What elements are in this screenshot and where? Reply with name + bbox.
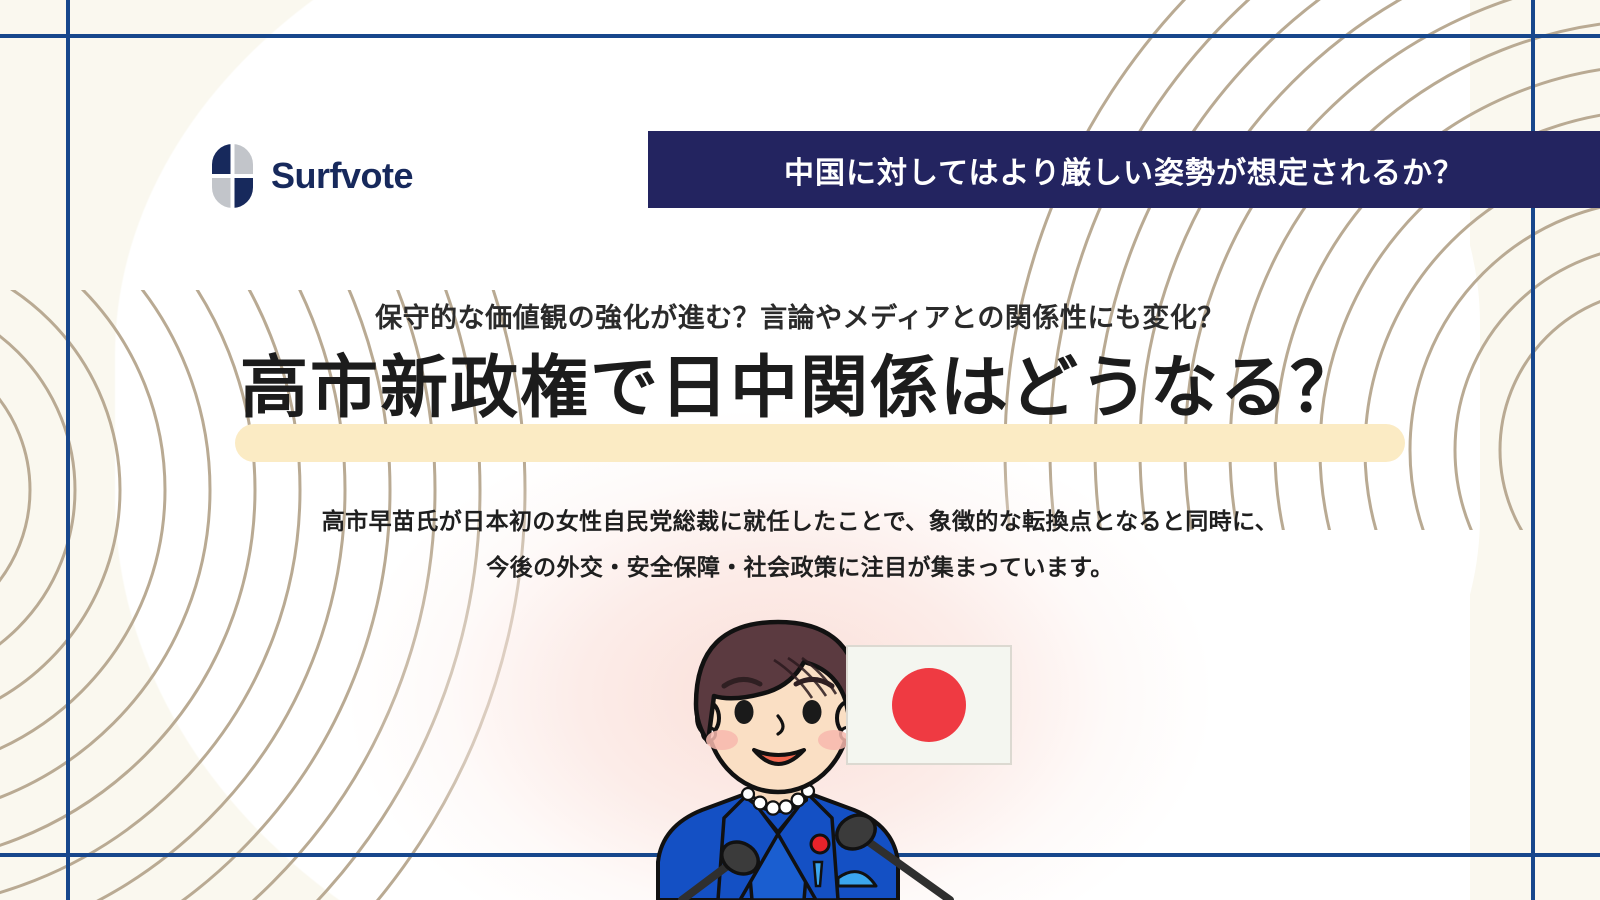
headline-block: 高市新政権で日中関係はどうなる？ [0, 352, 1600, 425]
flag-sun-disc [892, 668, 966, 742]
page-title: 高市新政権で日中関係はどうなる？ [0, 352, 1600, 425]
brand-wordmark: Surfvote [271, 158, 413, 194]
body-line-2: 今後の外交・安全保障・社会政策に注目が集まっています。 [0, 544, 1600, 590]
japan-flag-icon [846, 645, 1012, 765]
headline-highlight-bar [235, 424, 1405, 462]
poster-canvas: Surfvote 中国に対してはより厳しい姿勢が想定されるか？ 保守的な価値観の… [0, 0, 1600, 900]
surfvote-pill-mark-icon [212, 144, 253, 208]
eye-right [803, 700, 822, 724]
lapel-pin-icon [811, 835, 829, 853]
body-copy: 高市早苗氏が日本初の女性自民党総裁に就任したことで、象徴的な転換点となると同時に… [0, 498, 1600, 590]
frame-line-top [0, 34, 1600, 38]
brand-logo[interactable]: Surfvote [212, 144, 413, 208]
headline-banner: 中国に対してはより厳しい姿勢が想定されるか？ [648, 131, 1600, 208]
eye-left [735, 700, 754, 724]
banner-text: 中国に対してはより厳しい姿勢が想定されるか？ [784, 148, 1464, 192]
frame-line-left [66, 0, 70, 900]
subtitle-text: 保守的な価値観の強化が進む？言論やメディアとの関係性にも変化？ [0, 296, 1600, 335]
body-line-1: 高市早苗氏が日本初の女性自民党総裁に就任したことで、象徴的な転換点となると同時に… [0, 498, 1600, 544]
